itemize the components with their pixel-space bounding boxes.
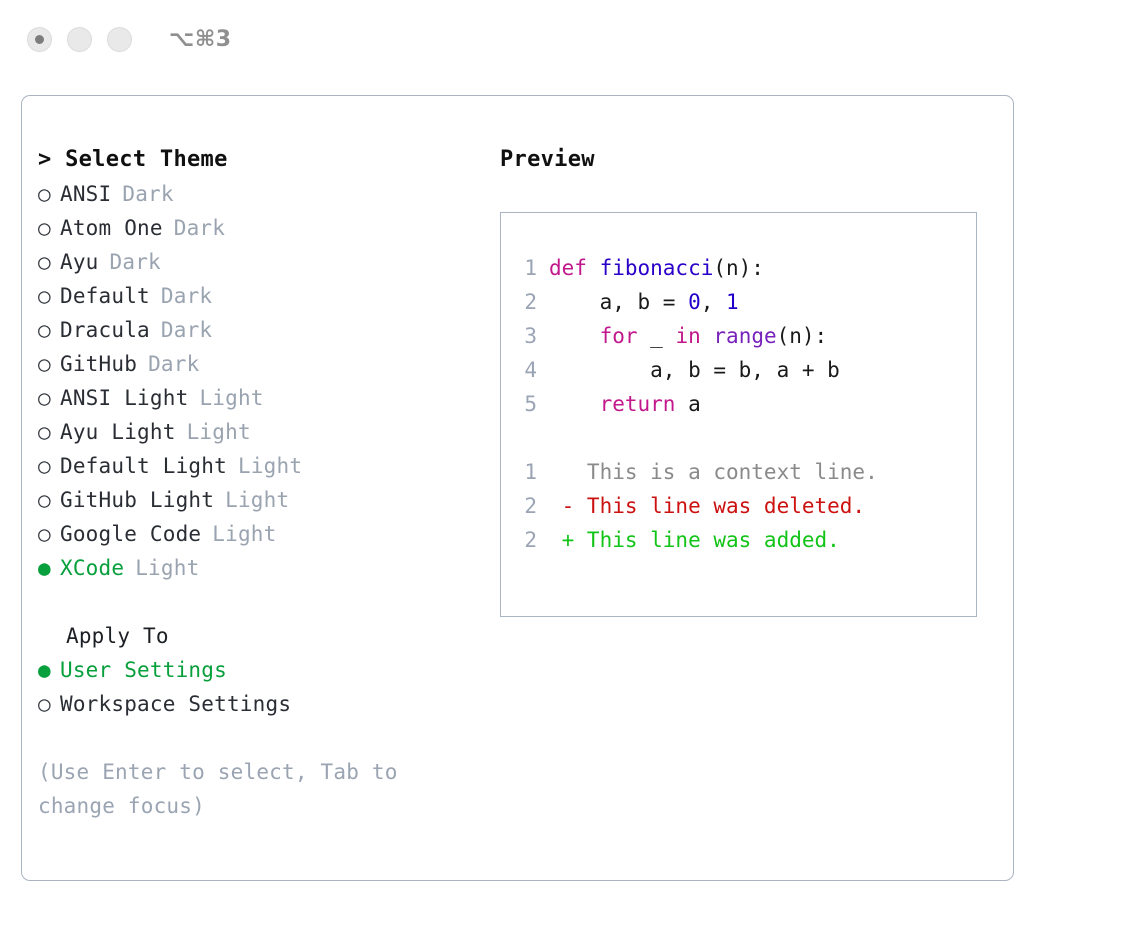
theme-option-tag: Dark [110, 245, 161, 279]
theme-option-label: GitHub Light [60, 483, 214, 517]
theme-option-tag: Light [187, 415, 251, 449]
code-token-txt [701, 319, 714, 353]
diff-line: 2 + This line was added. [511, 523, 976, 557]
code-token-txt: (n): [713, 251, 764, 285]
apply-to-option-label: User Settings [60, 653, 227, 687]
code-token-txt [549, 319, 600, 353]
theme-option-ayu[interactable]: ○AyuDark [38, 245, 498, 279]
code-token-txt: (n): [777, 319, 828, 353]
line-number: 5 [511, 387, 537, 421]
theme-option-label: ANSI Light [60, 381, 188, 415]
traffic-light-group [27, 27, 132, 52]
radio-unselected-icon: ○ [38, 177, 60, 211]
radio-selected-icon: ● [38, 653, 60, 687]
code-line: 4 a, b = b, a + b [511, 353, 976, 387]
theme-option-tag: Light [225, 483, 289, 517]
theme-picker-column: > Select Theme ○ANSIDark○Atom OneDark○Ay… [38, 143, 498, 823]
line-number: 1 [511, 251, 537, 285]
radio-unselected-icon: ○ [38, 279, 60, 313]
theme-option-tag: Dark [174, 211, 225, 245]
code-token-kw: def [549, 251, 600, 285]
theme-option-tag: Light [212, 517, 276, 551]
line-number: 2 [511, 523, 537, 557]
apply-to-option-label: Workspace Settings [60, 687, 291, 721]
line-number: 4 [511, 353, 537, 387]
code-line: 1def fibonacci(n): [511, 251, 976, 285]
theme-option-default[interactable]: ○DefaultDark [38, 279, 498, 313]
radio-unselected-icon: ○ [38, 211, 60, 245]
traffic-light-3[interactable] [107, 27, 132, 52]
theme-option-tag: Dark [161, 313, 212, 347]
radio-selected-icon: ● [38, 551, 60, 585]
radio-unselected-icon: ○ [38, 687, 60, 721]
theme-option-dracula[interactable]: ○DraculaDark [38, 313, 498, 347]
theme-option-label: Ayu [60, 245, 99, 279]
code-token-add: + This line was added. [549, 523, 840, 557]
theme-option-ayu-light[interactable]: ○Ayu LightLight [38, 415, 498, 449]
code-token-call: range [713, 319, 776, 353]
keyboard-shortcut-label: ⌥⌘3 [169, 27, 232, 52]
diff-line: 1 This is a context line. [511, 455, 976, 489]
apply-to-option-workspace-settings[interactable]: ○Workspace Settings [38, 687, 498, 721]
radio-unselected-icon: ○ [38, 347, 60, 381]
code-token-ctx: This is a context line. [549, 455, 878, 489]
code-line: 3 for _ in range(n): [511, 319, 976, 353]
code-token-txt: a [675, 387, 700, 421]
code-token-num: 1 [726, 285, 739, 319]
theme-option-atom-one[interactable]: ○Atom OneDark [38, 211, 498, 245]
theme-option-label: Default [60, 279, 150, 313]
radio-unselected-icon: ○ [38, 415, 60, 449]
theme-option-ansi-light[interactable]: ○ANSI LightLight [38, 381, 498, 415]
theme-option-xcode[interactable]: ●XCodeLight [38, 551, 498, 585]
traffic-light-active-dot [35, 35, 44, 44]
code-line: 2 a, b = 0, 1 [511, 285, 976, 319]
apply-to-list: ●User Settings○Workspace Settings [38, 653, 498, 721]
code-token-fn: fibonacci [600, 251, 714, 285]
theme-option-google-code[interactable]: ○Google CodeLight [38, 517, 498, 551]
app-window: ⌥⌘3 > Select Theme ○ANSIDark○Atom OneDar… [0, 0, 1140, 934]
theme-option-label: Default Light [60, 449, 227, 483]
traffic-light-active[interactable] [27, 27, 52, 52]
radio-unselected-icon: ○ [38, 313, 60, 347]
theme-option-label: Ayu Light [60, 415, 176, 449]
theme-option-github-light[interactable]: ○GitHub LightLight [38, 483, 498, 517]
preview-column: Preview 1def fibonacci(n):2 a, b = 0, 13… [500, 143, 990, 617]
theme-option-tag: Dark [161, 279, 212, 313]
preview-box: 1def fibonacci(n):2 a, b = 0, 13 for _ i… [500, 212, 977, 617]
radio-unselected-icon: ○ [38, 483, 60, 517]
diff-sample: 1 This is a context line.2 - This line w… [511, 455, 976, 557]
keyboard-hint: (Use Enter to select, Tab to change focu… [38, 755, 458, 823]
code-token-txt [549, 387, 600, 421]
theme-option-label: Atom One [60, 211, 163, 245]
theme-option-default-light[interactable]: ○Default LightLight [38, 449, 498, 483]
theme-option-label: XCode [60, 551, 124, 585]
code-token-num: 0 [688, 285, 701, 319]
radio-unselected-icon: ○ [38, 245, 60, 279]
radio-unselected-icon: ○ [38, 449, 60, 483]
radio-unselected-icon: ○ [38, 381, 60, 415]
theme-option-ansi[interactable]: ○ANSIDark [38, 177, 498, 211]
list-spacer [38, 585, 498, 619]
preview-heading: Preview [500, 143, 990, 177]
code-token-kw: for [600, 319, 638, 353]
line-number: 2 [511, 489, 537, 523]
code-token-txt: _ [638, 319, 676, 353]
theme-option-label: Dracula [60, 313, 150, 347]
theme-option-github[interactable]: ○GitHubDark [38, 347, 498, 381]
code-sample: 1def fibonacci(n):2 a, b = 0, 13 for _ i… [511, 251, 976, 421]
select-theme-heading: > Select Theme [38, 143, 498, 177]
line-number: 3 [511, 319, 537, 353]
diff-line: 2 - This line was deleted. [511, 489, 976, 523]
code-line: 5 return a [511, 387, 976, 421]
apply-to-option-user-settings[interactable]: ●User Settings [38, 653, 498, 687]
main-panel: > Select Theme ○ANSIDark○Atom OneDark○Ay… [21, 95, 1014, 881]
apply-to-heading: Apply To [38, 619, 498, 653]
code-token-txt: a, b = b, a + b [549, 353, 840, 387]
code-token-kw: in [675, 319, 700, 353]
code-token-del: - This line was deleted. [549, 489, 865, 523]
code-token-kw: return [600, 387, 676, 421]
theme-option-label: GitHub [60, 347, 137, 381]
theme-option-label: Google Code [60, 517, 201, 551]
theme-option-tag: Dark [122, 177, 173, 211]
theme-option-tag: Light [238, 449, 302, 483]
traffic-light-2[interactable] [67, 27, 92, 52]
theme-list: ○ANSIDark○Atom OneDark○AyuDark○DefaultDa… [38, 177, 498, 585]
code-token-txt: a, b = [549, 285, 688, 319]
theme-option-tag: Light [199, 381, 263, 415]
code-token-txt: , [701, 285, 726, 319]
line-number: 1 [511, 455, 537, 489]
theme-option-label: ANSI [60, 177, 111, 211]
line-number: 2 [511, 285, 537, 319]
theme-option-tag: Light [135, 551, 199, 585]
radio-unselected-icon: ○ [38, 517, 60, 551]
code-gap [511, 421, 976, 455]
theme-option-tag: Dark [148, 347, 199, 381]
title-bar: ⌥⌘3 [0, 0, 1140, 78]
